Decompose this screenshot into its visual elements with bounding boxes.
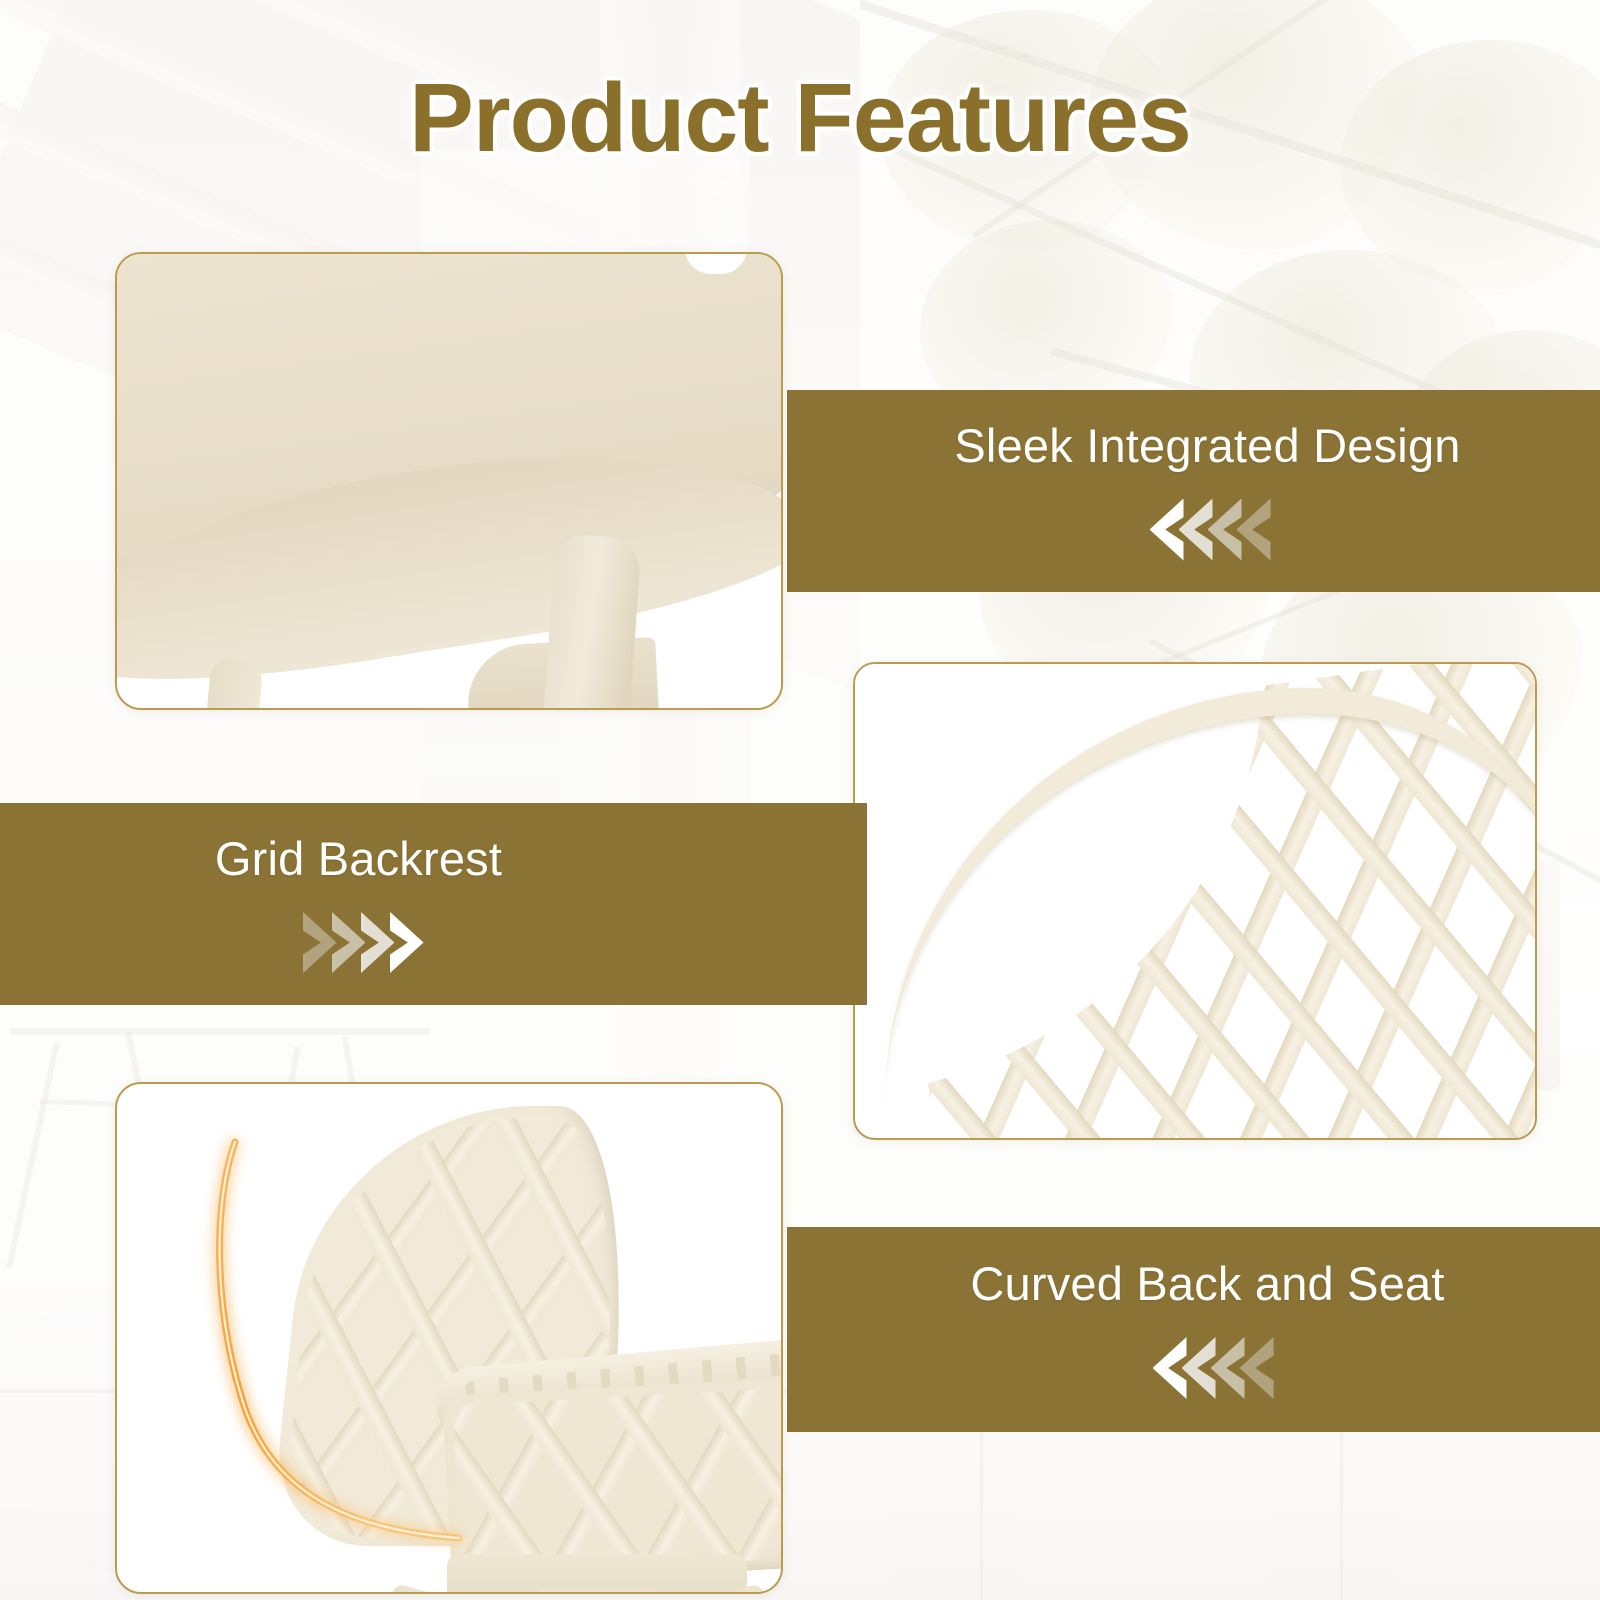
chevron-left-icon <box>1211 1337 1245 1399</box>
feature-label-grid: Grid Backrest <box>215 835 502 882</box>
feature-label-sleek: Sleek Integrated Design <box>954 422 1460 469</box>
chevron-right-icon <box>390 912 424 974</box>
feature-image-grid <box>853 662 1537 1140</box>
page-title: Product Features <box>0 62 1600 174</box>
chevron-left-icon <box>1208 499 1242 561</box>
chevron-right-icon <box>332 912 366 974</box>
chevron-left-icon <box>1179 499 1213 561</box>
chair-seat-lattice <box>453 1383 783 1576</box>
chevron-left-icon <box>1153 1337 1187 1399</box>
feature-label-curved: Curved Back and Seat <box>970 1260 1444 1307</box>
chevron-left-icon <box>1237 499 1271 561</box>
chevron-group-left <box>1153 1337 1269 1399</box>
chevron-right-icon <box>303 912 337 974</box>
chair-front-leg <box>542 533 642 710</box>
chevron-group-left <box>1150 499 1266 561</box>
chair-leg-left <box>365 1583 453 1594</box>
chevron-left-icon <box>1182 1337 1216 1399</box>
feature-image-curved <box>115 1082 783 1594</box>
feature-banner-curved: Curved Back and Seat <box>787 1227 1600 1432</box>
feature-banner-grid: Grid Backrest <box>0 803 867 1005</box>
chevron-group-right <box>303 912 419 974</box>
chevron-left-icon <box>1150 499 1184 561</box>
chair-seat-base <box>447 1554 747 1594</box>
feature-image-sleek <box>115 252 783 710</box>
chevron-right-icon <box>361 912 395 974</box>
chevron-left-icon <box>1240 1337 1274 1399</box>
feature-banner-sleek: Sleek Integrated Design <box>787 390 1600 592</box>
